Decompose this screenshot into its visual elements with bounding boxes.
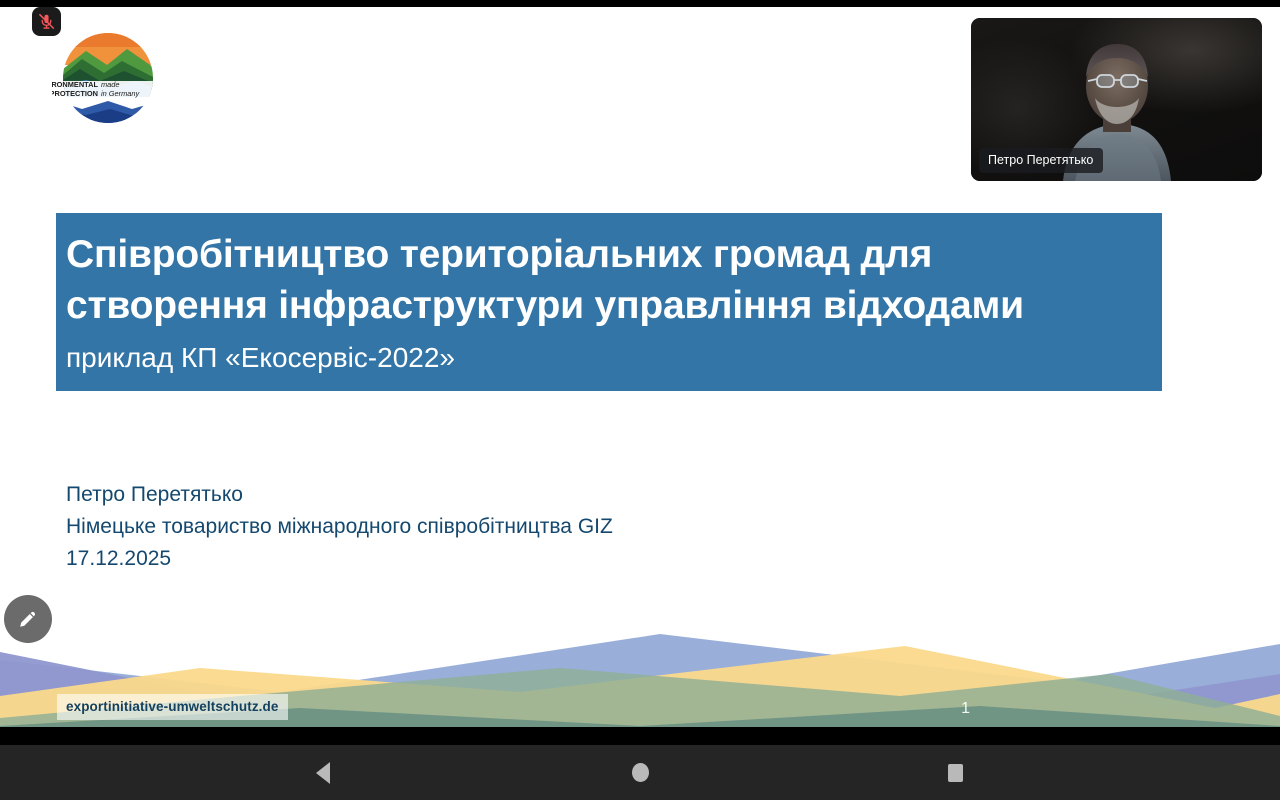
presentation-date: 17.12.2025	[66, 543, 613, 575]
slide-subtitle: приклад КП «Екосервіс-2022»	[66, 339, 1140, 377]
logo-line2-italic: in Germany	[101, 89, 141, 98]
logo-line1-bold: ENVIRONMENTAL	[52, 80, 98, 89]
slide-page-number: 1	[961, 700, 970, 718]
back-triangle-icon	[316, 762, 330, 784]
bottom-black-gap	[0, 727, 1280, 745]
nav-home-button[interactable]	[595, 745, 685, 800]
participant-video-tile[interactable]: Петро Перетятько	[971, 18, 1262, 181]
author-organization: Німецьке товариство міжнародного співроб…	[66, 511, 613, 543]
author-block: Петро Перетятько Німецьке товариство між…	[66, 479, 613, 575]
logo-line2-bold: PROTECTION	[52, 89, 98, 98]
slide-title: Співробітництво територіальних громад дл…	[66, 229, 1140, 331]
environmental-protection-made-in-germany-logo: ENVIRONMENTAL made PROTECTION in Germany	[52, 25, 164, 131]
footer-website-url[interactable]: exportinitiative-umweltschutz.de	[57, 694, 288, 720]
android-navigation-bar	[0, 745, 1280, 800]
participant-name-label: Петро Перетятько	[979, 148, 1103, 174]
device-screen: ENVIRONMENTAL made PROTECTION in Germany…	[0, 0, 1280, 800]
logo-line1-italic: made	[101, 80, 120, 89]
recents-square-icon	[948, 764, 963, 782]
nav-recents-button[interactable]	[910, 745, 1000, 800]
nav-back-button[interactable]	[278, 745, 368, 800]
edit-pencil-button[interactable]	[4, 595, 52, 643]
home-circle-icon	[632, 763, 649, 782]
author-name: Петро Перетятько	[66, 479, 613, 511]
slide-title-banner: Співробітництво територіальних громад дл…	[56, 213, 1162, 391]
microphone-muted-icon[interactable]	[32, 7, 61, 36]
top-black-strip	[0, 0, 1280, 7]
